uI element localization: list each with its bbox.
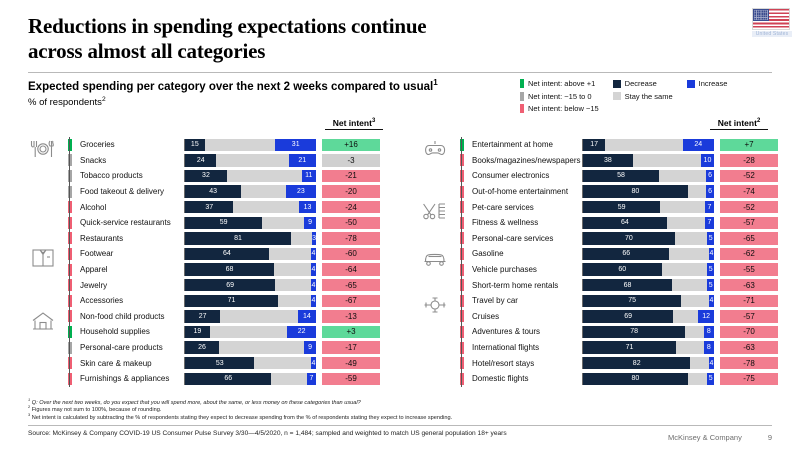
bar-segment-decrease: 64 [583,217,667,229]
bar-segment-increase: 12 [698,310,714,322]
bar-segment-increase: 11 [302,170,316,182]
subtitle-sub: % of respondents2 [28,97,508,108]
chart-row: Entertainment at home1724+7 [420,137,780,153]
bar-segment-increase: 23 [286,185,316,197]
chart-row: Quick-service restaurants599-50 [28,215,388,231]
net-intent-flag [454,309,464,325]
title-line-1: Reductions in spending expectations cont… [28,14,668,39]
bar-segment-decrease: 59 [583,201,660,213]
bar-value-increase: 31 [290,141,302,148]
row-icon-spacer [420,262,454,278]
row-icon-spacer [420,231,454,247]
category-label: Gasoline [464,246,582,262]
category-label: Snacks [72,153,184,169]
category-label: Hotel/resort stays [464,355,582,371]
legend-column: DecreaseStay the same [613,79,673,113]
net-intent-flag [454,277,464,293]
group-axis-line [69,153,70,169]
legend-swatch-icon [613,80,621,88]
stacked-bar[interactable]: 1531 [184,139,316,151]
bar-segment-increase: 21 [289,154,317,166]
group-axis-line [461,184,462,200]
bar-value-increase: 4 [309,250,317,257]
net-intent-value: -71 [720,295,778,307]
bar-segment-decrease: 32 [185,170,227,182]
bar-segment-decrease: 38 [583,154,633,166]
stacked-bar[interactable]: 647 [582,217,714,229]
us-flag-icon [752,8,790,30]
bar-value-decrease: 70 [623,235,635,242]
bar-segment-decrease: 59 [185,217,262,229]
net-intent-value: -63 [720,279,778,291]
net-intent-flag [62,355,72,371]
stacked-bar[interactable]: 667 [184,373,316,385]
net-intent-flag [454,153,464,169]
chart-row: Accessories714-67 [28,293,388,309]
legend-swatch-icon [520,104,524,113]
bar-value-increase: 9 [306,219,314,226]
category-label: Groceries [72,137,184,153]
category-label: Travel by car [464,293,582,309]
net-intent-flag [62,184,72,200]
bar-value-increase: 13 [302,204,314,211]
bar-value-increase: 12 [700,313,712,320]
category-label: Domestic flights [464,371,582,387]
net-intent-flag [62,246,72,262]
subtitle-sub-sup: 2 [102,96,106,103]
net-intent-value: -13 [322,310,380,322]
chart-row: Jewelry694-65 [28,277,388,293]
house-icon [28,309,62,325]
net-intent-value: -24 [322,201,380,213]
bar-segment-decrease: 66 [185,373,271,385]
bar-value-decrease: 58 [615,172,627,179]
bar-segment-decrease: 24 [185,154,216,166]
row-icon-spacer [28,262,62,278]
legend-label: Net intent: above +1 [528,79,595,88]
bar-value-increase: 8 [705,344,713,351]
net-intent-value: +16 [322,139,380,151]
net-intent-value: -17 [322,341,380,353]
row-icon-spacer [420,215,454,231]
row-icon-spacer [420,371,454,387]
bar-value-decrease: 78 [628,328,640,335]
stacked-bar[interactable]: 705 [582,232,714,244]
category-label: Fitness & wellness [464,215,582,231]
subtitle-block: Expected spending per category over the … [28,80,508,108]
bar-value-decrease: 59 [218,219,230,226]
bar-segment-decrease: 64 [185,248,269,260]
group-axis-line [69,215,70,231]
bar-value-decrease: 81 [232,235,244,242]
group-axis-line [69,371,70,387]
bar-value-increase: 24 [692,141,704,148]
net-intent-value: -75 [720,373,778,385]
bar-segment-decrease: 37 [185,201,233,213]
chart-row: Gasoline664-62 [420,246,780,262]
bar-value-decrease: 69 [622,313,634,320]
row-icon-spacer [420,153,454,169]
legend-item[interactable]: Net intent: above +1 [520,79,599,88]
bar-segment-increase: 4 [709,357,714,369]
legend-label: Stay the same [625,92,673,101]
footnotes-block: 1 Q: Over the next two weeks, do you exp… [28,400,772,437]
group-axis-line [461,340,462,356]
stacked-bar[interactable]: 754 [582,295,714,307]
stacked-bar[interactable]: 718 [582,341,714,353]
stacked-bar[interactable]: 2421 [184,154,316,166]
chart-row: Consumer electronics586-52 [420,168,780,184]
bar-value-decrease: 27 [197,313,209,320]
legend-item[interactable]: Net intent: −15 to 0 [520,92,599,101]
bar-segment-increase: 6 [706,170,714,182]
stacked-bar[interactable]: 534 [184,357,316,369]
bar-value-decrease: 59 [616,204,628,211]
brand-label: McKinsey & Company [668,433,742,442]
stacked-bar[interactable]: 597 [582,201,714,213]
bar-segment-increase: 4 [311,263,316,275]
subtitle-main-text: Expected spending per category over the … [28,81,433,93]
category-label: Tobacco products [72,168,184,184]
legend-label: Increase [699,79,728,88]
bar-segment-increase: 10 [701,154,714,166]
bar-value-decrease: 80 [630,188,642,195]
group-axis-line [461,324,462,340]
group-axis-line [69,199,70,215]
bar-segment-decrease: 69 [185,279,275,291]
group-axis-line [461,137,462,153]
stacked-bar[interactable]: 3211 [184,170,316,182]
group-axis-line [461,246,462,262]
group-axis-line [461,231,462,247]
chart-legend: Net intent: above +1Net intent: −15 to 0… [520,79,727,113]
chart-row: Restaurants813-78 [28,231,388,247]
bar-value-decrease: 60 [616,266,628,273]
row-icon-spacer [420,355,454,371]
category-label: Pet-care services [464,199,582,215]
bar-segment-increase: 8 [704,326,714,338]
row-icon-spacer [28,184,62,200]
net-intent-flag [62,199,72,215]
stacked-bar[interactable]: 2714 [184,310,316,322]
net-intent-value: -65 [322,279,380,291]
stacked-bar[interactable]: 813 [184,232,316,244]
bar-value-decrease: 19 [192,328,204,335]
subtitle-main: Expected spending per category over the … [28,80,508,94]
group-axis-line [461,153,462,169]
stacked-bar[interactable]: 3713 [184,201,316,213]
row-icon-spacer [420,277,454,293]
net-intent-flag [62,371,72,387]
category-label: Footwear [72,246,184,262]
bar-segment-decrease: 82 [583,357,690,369]
chart-row: Non-food child products2714-13 [28,309,388,325]
bar-value-decrease: 80 [630,375,642,382]
chart-row: Hotel/resort stays824-78 [420,355,780,371]
bar-segment-increase: 8 [704,341,714,353]
bar-segment-increase: 7 [705,201,714,213]
group-axis-line [461,293,462,309]
bar-segment-increase: 9 [304,341,316,353]
bar-segment-increase: 5 [707,279,714,291]
row-icon-spacer [28,199,62,215]
chart-row: Snacks2421-3 [28,153,388,169]
stacked-bar[interactable]: 3810 [582,154,714,166]
stacked-bar[interactable]: 1922 [184,326,316,338]
bar-segment-increase: 14 [298,310,316,322]
net-intent-value: -64 [322,263,380,275]
chart-row: Furnishings & appliances667-59 [28,371,388,387]
net-intent-header-left-sup: 3 [372,118,375,124]
net-intent-value: -78 [720,357,778,369]
bar-segment-increase: 4 [709,248,714,260]
footnote: 3 Net intent is calculated by subtractin… [28,415,772,422]
group-axis-line [69,168,70,184]
net-intent-header-left-text: Net intent [333,118,372,128]
row-icon-spacer [28,355,62,371]
row-icon-spacer [420,324,454,340]
group-axis-line [69,231,70,247]
net-intent-flag [454,184,464,200]
flag-label: United States [752,31,792,37]
category-label: Accessories [72,293,184,309]
shirt-icon [28,246,62,262]
group-axis-line [69,309,70,325]
net-intent-flag [62,277,72,293]
group-axis-line [461,309,462,325]
bar-segment-decrease: 58 [583,170,659,182]
chart-row: Travel by car754-71 [420,293,780,309]
category-label: Non-food child products [72,309,184,325]
bar-segment-decrease: 80 [583,373,688,385]
row-icon-spacer [420,309,454,325]
bar-segment-increase: 4 [311,248,316,260]
stacked-bar[interactable]: 586 [582,170,714,182]
chart-rows-right: Entertainment at home1724+7Books/magazin… [420,137,780,387]
chart-row: Personal-care products269-17 [28,340,388,356]
bar-segment-increase: 5 [707,373,714,385]
chart-row: Apparel684-64 [28,262,388,278]
stacked-bar[interactable]: 6912 [582,310,714,322]
net-intent-header-right-sup: 2 [757,118,760,124]
net-intent-value: +7 [720,139,778,151]
stacked-bar[interactable]: 694 [184,279,316,291]
net-intent-flag [62,153,72,169]
bar-segment-increase: 3 [312,232,316,244]
legend-item[interactable]: Decrease [613,79,673,88]
net-intent-value: -28 [720,154,778,166]
row-icon-spacer [28,231,62,247]
legend-swatch-icon [687,80,695,88]
bar-value-decrease: 71 [226,297,238,304]
stacked-bar[interactable]: 805 [582,373,714,385]
category-label: Books/magazines/newspapers [464,153,582,169]
bar-value-decrease: 38 [602,157,614,164]
bar-value-decrease: 68 [622,282,634,289]
net-intent-flag [454,168,464,184]
legend-column: Net intent: above +1Net intent: −15 to 0… [520,79,599,113]
category-label: Quick-service restaurants [72,215,184,231]
page-title: Reductions in spending expectations cont… [28,14,668,64]
chart-row: Vehicle purchases605-55 [420,262,780,278]
net-intent-flag [454,340,464,356]
category-label: Personal-care products [72,340,184,356]
bar-segment-increase: 4 [709,295,714,307]
category-label: Restaurants [72,231,184,247]
country-flag: United States [752,8,792,37]
row-icon-spacer [28,277,62,293]
stacked-bar[interactable]: 684 [184,263,316,275]
category-label: Consumer electronics [464,168,582,184]
bar-value-decrease: 68 [224,266,236,273]
bar-value-increase: 4 [309,266,317,273]
net-intent-flag [62,231,72,247]
legend-column: Increase [687,79,728,113]
group-axis-line [69,293,70,309]
bar-value-increase: 4 [309,282,317,289]
row-icon-spacer [28,153,62,169]
bar-segment-decrease: 60 [583,263,662,275]
category-label: Skin care & makeup [72,355,184,371]
bar-value-increase: 11 [303,172,314,179]
bar-segment-decrease: 15 [185,139,205,151]
group-axis-line [69,355,70,371]
footnote-text: Net intent is calculated by subtracting … [30,415,452,421]
bar-value-increase: 9 [306,344,314,351]
net-intent-value: +3 [322,326,380,338]
row-icon-spacer [420,340,454,356]
footnote-text: Q: Over the next two weeks, do you expec… [30,400,361,406]
chart-row: Out-of-home entertainment806-74 [420,184,780,200]
legend-item[interactable]: Increase [687,79,728,88]
bar-value-decrease: 17 [588,141,600,148]
stacked-bar[interactable]: 599 [184,217,316,229]
category-label: Short-term home rentals [464,277,582,293]
subtitle-sub-text: % of respondents [28,97,102,108]
bar-value-increase: 4 [309,297,317,304]
stacked-bar[interactable]: 4323 [184,185,316,197]
bar-segment-decrease: 17 [583,139,605,151]
group-axis-line [69,137,70,153]
bar-value-increase: 22 [296,328,308,335]
stacked-bar[interactable]: 644 [184,248,316,260]
group-axis-line [69,262,70,278]
bar-segment-increase: 7 [307,373,316,385]
bar-value-increase: 7 [307,375,315,382]
net-intent-flag [62,340,72,356]
net-intent-value: -57 [720,217,778,229]
bar-segment-decrease: 66 [583,248,669,260]
bar-value-increase: 4 [707,297,715,304]
net-intent-value: -74 [720,185,778,197]
slide-footer: McKinsey & Company 9 [668,433,772,442]
bar-value-increase: 5 [707,282,715,289]
net-intent-flag [454,231,464,247]
chart-row: Cruises6912-57 [420,309,780,325]
net-intent-value: -63 [720,341,778,353]
chart-row: Books/magazines/newspapers3810-28 [420,153,780,169]
bar-value-increase: 4 [707,360,715,367]
bar-value-increase: 5 [707,266,715,273]
bar-value-decrease: 24 [195,157,207,164]
bar-segment-decrease: 78 [583,326,685,338]
chart-row: Pet-care services597-52 [420,199,780,215]
group-axis-line [69,184,70,200]
stacked-bar[interactable]: 269 [184,341,316,353]
stacked-bar[interactable]: 788 [582,326,714,338]
net-intent-value: -57 [720,310,778,322]
bar-segment-decrease: 71 [583,341,676,353]
row-icon-spacer [28,293,62,309]
bar-segment-increase: 6 [706,185,714,197]
legend-item[interactable]: Stay the same [613,92,673,101]
row-icon-spacer [28,168,62,184]
net-intent-value: -70 [720,326,778,338]
row-icon-spacer [28,215,62,231]
group-axis-line [461,199,462,215]
category-label: Apparel [72,262,184,278]
bar-segment-decrease: 81 [185,232,291,244]
group-axis-line [69,277,70,293]
bar-segment-increase: 13 [299,201,316,213]
row-icon-spacer [28,340,62,356]
stacked-bar[interactable]: 824 [582,357,714,369]
chart-row: Food takeout & delivery4323-20 [28,184,388,200]
category-label: Vehicle purchases [464,262,582,278]
bar-segment-decrease: 53 [185,357,254,369]
category-label: Entertainment at home [464,137,582,153]
net-intent-flag [62,137,72,153]
group-axis-line [69,324,70,340]
bar-segment-decrease: 71 [185,295,278,307]
legend-swatch-icon [613,92,621,100]
net-intent-header-left: Net intent3 [325,118,383,130]
stacked-bar[interactable]: 806 [582,185,714,197]
stacked-bar[interactable]: 605 [582,263,714,275]
group-axis-line [461,371,462,387]
bar-value-increase: 6 [706,188,714,195]
bar-segment-increase: 5 [707,263,714,275]
net-intent-flag [62,293,72,309]
chart-row: Domestic flights805-75 [420,371,780,387]
bar-segment-increase: 9 [304,217,316,229]
stacked-bar[interactable]: 1724 [582,139,714,151]
header-divider [28,72,772,73]
category-label: Alcohol [72,199,184,215]
net-intent-flag [454,246,464,262]
group-axis-line [461,355,462,371]
net-intent-flag [62,324,72,340]
net-intent-value: -49 [322,357,380,369]
stacked-bar[interactable]: 664 [582,248,714,260]
bar-segment-decrease: 27 [185,310,220,322]
stacked-bar[interactable]: 685 [582,279,714,291]
bar-value-decrease: 66 [222,375,234,382]
net-intent-flag [454,293,464,309]
bar-value-decrease: 15 [189,141,201,148]
bar-segment-decrease: 70 [583,232,675,244]
net-intent-value: -78 [322,232,380,244]
bar-segment-increase: 4 [311,357,316,369]
bar-segment-decrease: 68 [583,279,672,291]
stacked-bar[interactable]: 714 [184,295,316,307]
net-intent-value: -52 [720,201,778,213]
bar-segment-increase: 7 [705,217,714,229]
category-label: Household supplies [72,324,184,340]
group-axis-line [69,246,70,262]
net-intent-header-right: Net intent2 [710,118,768,130]
legend-item[interactable]: Net intent: below −15 [520,104,599,113]
